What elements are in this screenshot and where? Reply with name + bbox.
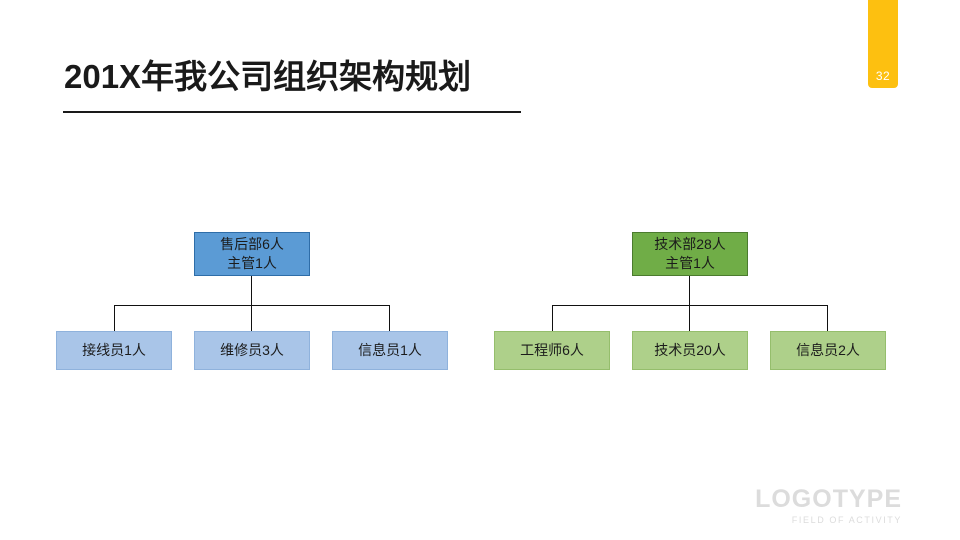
org-chart: 售后部6人 主管1人 接线员1人 维修员3人 信息员1人 技术部28人 主管1人… [0, 0, 960, 540]
org-node-leaf[interactable]: 接线员1人 [56, 331, 172, 370]
org-node-leaf[interactable]: 维修员3人 [194, 331, 310, 370]
org-node-label: 信息员2人 [796, 341, 860, 360]
org-node-root-technology[interactable]: 技术部28人 主管1人 [632, 232, 748, 276]
org-node-label: 维修员3人 [220, 341, 284, 360]
connector-stem [689, 276, 690, 305]
org-node-line1: 技术部28人 [654, 235, 726, 254]
org-node-line1: 售后部6人 [220, 235, 284, 254]
org-node-leaf[interactable]: 工程师6人 [494, 331, 610, 370]
org-node-root-after-sales[interactable]: 售后部6人 主管1人 [194, 232, 310, 276]
connector-drop [552, 305, 553, 331]
org-node-line2: 主管1人 [227, 254, 277, 273]
org-node-label: 工程师6人 [520, 341, 584, 360]
org-node-leaf[interactable]: 信息员2人 [770, 331, 886, 370]
org-node-line2: 主管1人 [665, 254, 715, 273]
logo-tagline: FIELD OF ACTIVITY [755, 514, 902, 526]
logo: LOGOTYPE FIELD OF ACTIVITY [755, 486, 902, 526]
connector-drop [389, 305, 390, 331]
org-node-leaf[interactable]: 技术员20人 [632, 331, 748, 370]
org-node-label: 信息员1人 [358, 341, 422, 360]
logo-name: LOGOTYPE [755, 486, 902, 512]
org-node-label: 技术员20人 [654, 341, 726, 360]
connector-drop [827, 305, 828, 331]
org-node-leaf[interactable]: 信息员1人 [332, 331, 448, 370]
connector-drop [689, 305, 690, 331]
connector-stem [251, 276, 252, 305]
connector-drop [251, 305, 252, 331]
connector-drop [114, 305, 115, 331]
org-node-label: 接线员1人 [82, 341, 146, 360]
